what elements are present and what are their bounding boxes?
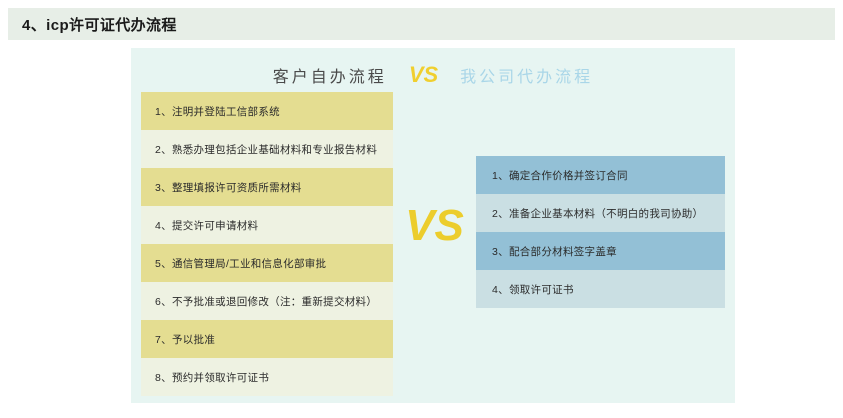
section-header-bar: 4、icp许可证代办流程	[8, 8, 835, 40]
company-step-item: 4、领取许可证书	[476, 270, 725, 308]
customer-step-item: 6、不予批准或退回修改（注：重新提交材料）	[141, 282, 393, 320]
company-step-item: 2、准备企业基本材料（不明白的我司协助）	[476, 194, 725, 232]
customer-step-item: 3、整理填报许可资质所需材料	[141, 168, 393, 206]
customer-steps-list: 1、注明并登陆工信部系统 2、熟悉办理包括企业基础材料和专业报告材料 3、整理填…	[141, 92, 393, 396]
comparison-panel: 客户自办流程 VS 我公司代办流程 1、注明并登陆工信部系统 2、熟悉办理包括企…	[131, 48, 735, 403]
company-steps-list: 1、确定合作价格并签订合同 2、准备企业基本材料（不明白的我司协助） 3、配合部…	[476, 156, 725, 308]
heading-customer-process: 客户自办流程	[273, 63, 387, 87]
customer-step-item: 8、预约并领取许可证书	[141, 358, 393, 396]
customer-step-item: 1、注明并登陆工信部系统	[141, 92, 393, 130]
customer-step-item: 5、通信管理局/工业和信息化部审批	[141, 244, 393, 282]
center-vs-separator: VS	[393, 48, 476, 403]
company-step-item: 1、确定合作价格并签订合同	[476, 156, 725, 194]
center-vs-text: VS	[405, 204, 464, 248]
company-step-item: 3、配合部分材料签字盖章	[476, 232, 725, 270]
customer-step-item: 2、熟悉办理包括企业基础材料和专业报告材料	[141, 130, 393, 168]
heading-company-process: 我公司代办流程	[460, 63, 593, 87]
page-title: 4、icp许可证代办流程	[22, 14, 177, 35]
customer-step-item: 4、提交许可申请材料	[141, 206, 393, 244]
customer-step-item: 7、予以批准	[141, 320, 393, 358]
